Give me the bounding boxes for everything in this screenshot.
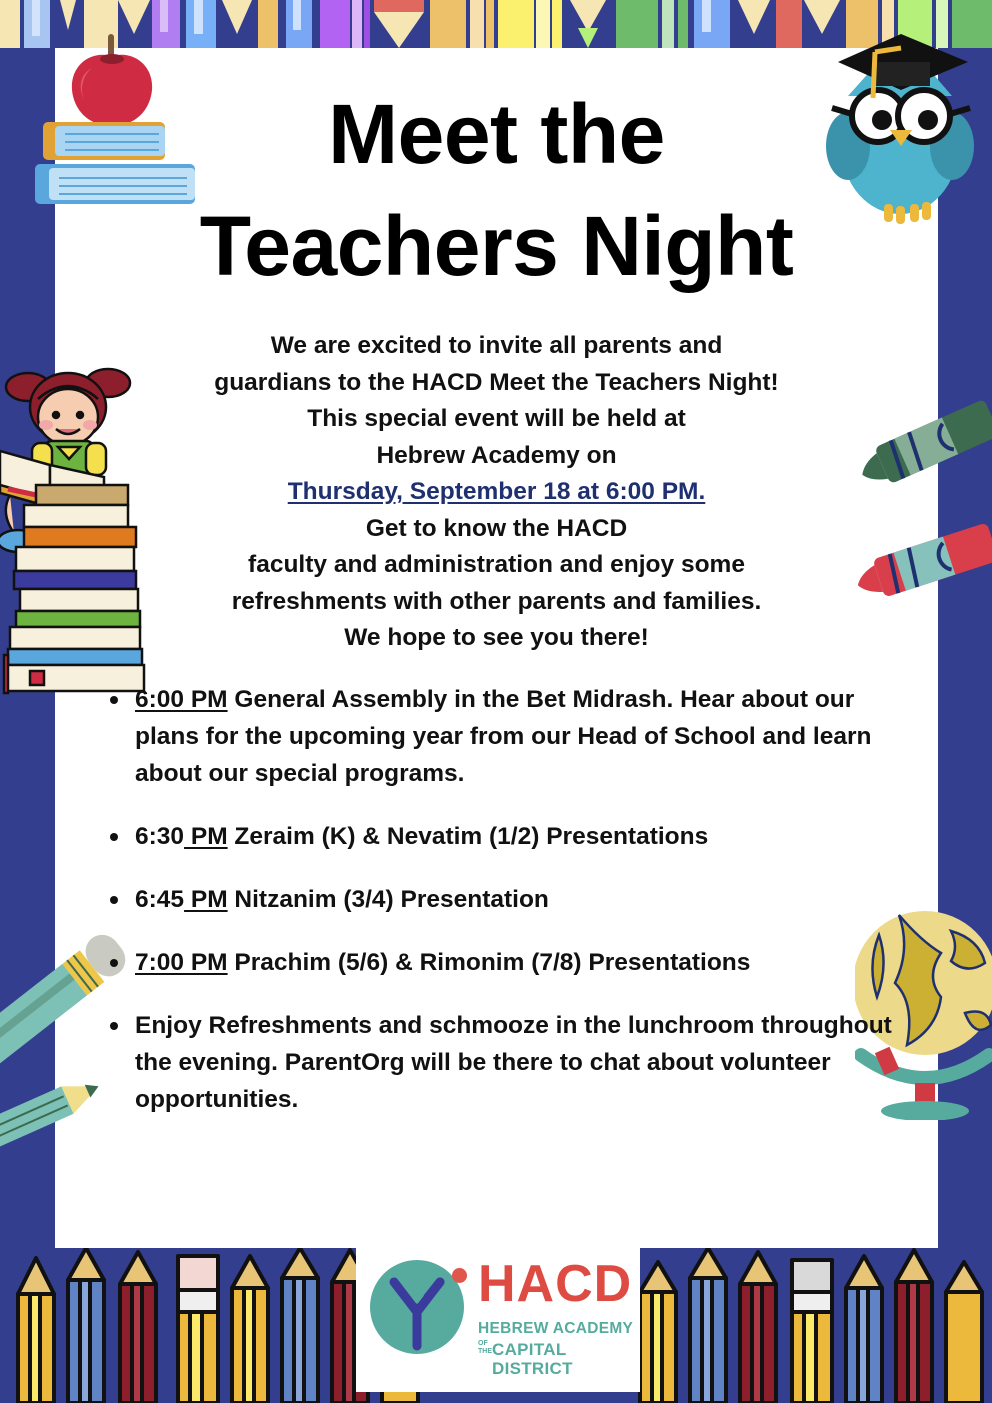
schedule-time: 6:45 bbox=[135, 886, 184, 913]
schedule-list: 6:00 PM General Assembly in the Bet Midr… bbox=[55, 681, 938, 1118]
page-title: Meet the Teachers Night bbox=[55, 86, 938, 294]
schedule-text: Enjoy Refreshments and schmooze in the l… bbox=[135, 1012, 892, 1113]
schedule-time: 7:00 PM bbox=[135, 949, 228, 976]
intro-paragraph: We are excited to invite all parents and… bbox=[55, 328, 938, 657]
intro-line-1: We are excited to invite all parents and bbox=[145, 328, 848, 365]
title-line-1: Meet the bbox=[55, 86, 938, 182]
list-item: 6:00 PM General Assembly in the Bet Midr… bbox=[105, 681, 912, 792]
intro-line-7: refreshments with other parents and fami… bbox=[145, 584, 848, 621]
event-date-line: Thursday, September 18 at 6:00 PM. bbox=[145, 474, 848, 511]
intro-line-5: Get to know the HACD bbox=[145, 511, 848, 548]
schedule-text: Nitzanim (3/4) Presentation bbox=[228, 886, 549, 913]
list-item: 6:30 PM Zeraim (K) & Nevatim (1/2) Prese… bbox=[105, 818, 912, 855]
list-item: 6:45 PM Nitzanim (3/4) Presentation bbox=[105, 881, 912, 918]
schedule-text: Prachim (5/6) & Rimonim (7/8) Presentati… bbox=[228, 949, 751, 976]
list-item: Enjoy Refreshments and schmooze in the l… bbox=[105, 1007, 912, 1118]
logo-subtitle-line-1: HEBREW ACADEMY bbox=[478, 1320, 633, 1337]
logo-subtitle-line-2: CAPITAL DISTRICT bbox=[492, 1340, 640, 1378]
schedule-time: 6:00 PM bbox=[135, 686, 228, 713]
logo-tree-circle-icon bbox=[370, 1260, 464, 1354]
intro-line-6: faculty and administration and enjoy som… bbox=[145, 547, 848, 584]
logo-dot-icon bbox=[452, 1268, 467, 1283]
schedule-text: General Assembly in the Bet Midrash. Hea… bbox=[135, 686, 871, 787]
hacd-logo: HACD HEBREW ACADEMY CAPITAL DISTRICT OF … bbox=[356, 1246, 640, 1392]
left-border-band bbox=[0, 0, 55, 1403]
schedule-text: Zeraim (K) & Nevatim (1/2) Presentations bbox=[228, 823, 709, 850]
list-item: 7:00 PM Prachim (5/6) & Rimonim (7/8) Pr… bbox=[105, 944, 912, 981]
poster-canvas: Meet the Teachers Night We are excited t… bbox=[0, 0, 992, 1403]
logo-acronym: HACD bbox=[478, 1258, 632, 1310]
intro-line-8: We hope to see you there! bbox=[145, 620, 848, 657]
intro-line-2: guardians to the HACD Meet the Teachers … bbox=[145, 365, 848, 402]
poster-content: Meet the Teachers Night We are excited t… bbox=[55, 48, 938, 1248]
schedule-time-suffix: PM bbox=[184, 823, 228, 850]
intro-line-4: Hebrew Academy on bbox=[145, 438, 848, 475]
schedule-time: 6:30 bbox=[135, 823, 184, 850]
intro-line-3: This special event will be held at bbox=[145, 401, 848, 438]
logo-of-the-text: OF THE bbox=[478, 1340, 490, 1356]
schedule-time-suffix: PM bbox=[184, 886, 228, 913]
title-line-2: Teachers Night bbox=[55, 198, 938, 294]
